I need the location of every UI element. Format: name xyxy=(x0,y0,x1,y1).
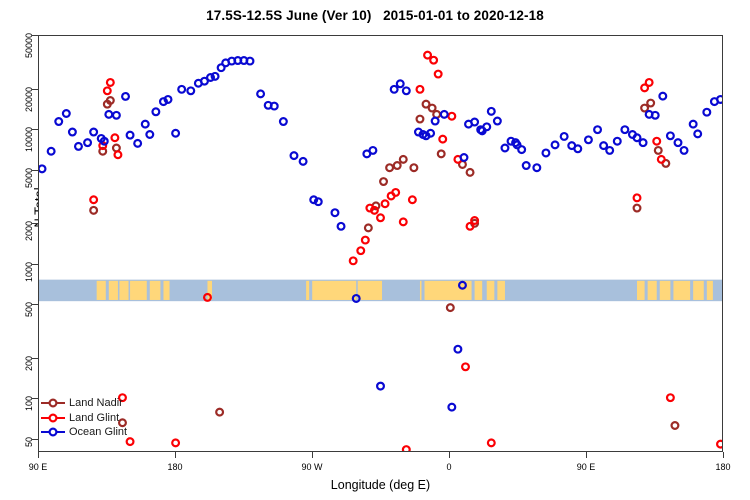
data-point xyxy=(394,162,401,169)
x-tick-mark xyxy=(312,452,313,458)
data-point xyxy=(424,52,431,59)
legend-item-ocean-glint[interactable]: Ocean Glint xyxy=(40,425,127,440)
data-point xyxy=(365,224,372,231)
data-point xyxy=(172,439,179,446)
data-point xyxy=(432,118,439,125)
y-tick-label: 2000 xyxy=(24,221,34,250)
data-point xyxy=(69,129,76,136)
data-point xyxy=(146,131,153,138)
data-point xyxy=(172,130,179,137)
data-point xyxy=(105,111,112,118)
data-point xyxy=(392,189,399,196)
data-point xyxy=(291,152,298,159)
data-point xyxy=(647,100,654,107)
data-point xyxy=(315,198,322,205)
data-point xyxy=(448,113,455,120)
data-point xyxy=(357,247,364,254)
y-tick-label: 20000 xyxy=(24,87,34,116)
data-point xyxy=(447,304,454,311)
data-point xyxy=(380,178,387,185)
data-point xyxy=(675,139,682,146)
data-point xyxy=(429,105,436,112)
data-point xyxy=(523,162,530,169)
y-tick-label: 200 xyxy=(24,356,34,385)
data-point xyxy=(257,90,264,97)
data-point xyxy=(518,146,525,153)
data-point xyxy=(377,383,384,390)
data-point xyxy=(271,103,278,110)
data-point xyxy=(561,133,568,140)
series-land-glint xyxy=(90,52,722,451)
data-point xyxy=(417,86,424,93)
data-point xyxy=(247,58,254,65)
legend-marker-icon xyxy=(40,411,66,425)
data-point xyxy=(187,87,194,94)
data-point xyxy=(113,112,120,119)
data-point xyxy=(461,154,468,161)
data-point xyxy=(652,112,659,119)
data-point xyxy=(300,158,307,165)
data-point xyxy=(350,257,357,264)
data-point xyxy=(178,86,185,93)
x-tick-label: 180 xyxy=(698,462,748,472)
series-ocean-glint xyxy=(39,57,722,410)
data-point xyxy=(204,294,211,301)
data-point xyxy=(39,165,45,172)
data-point xyxy=(430,57,437,64)
data-point xyxy=(107,97,114,104)
data-point xyxy=(55,118,62,125)
data-point xyxy=(122,93,129,100)
x-tick-mark xyxy=(175,452,176,458)
data-point xyxy=(332,209,339,216)
legend-item-land-nadir[interactable]: Land Nadir xyxy=(40,396,127,411)
data-point xyxy=(459,282,466,289)
x-tick-label: 180 xyxy=(150,462,200,472)
data-point xyxy=(502,145,509,152)
data-point xyxy=(467,169,474,176)
x-tick-label: 90 E xyxy=(561,462,611,472)
data-point xyxy=(681,147,688,154)
x-tick-label: 90 W xyxy=(287,462,337,472)
data-point xyxy=(382,200,389,207)
data-point xyxy=(634,194,641,201)
data-point xyxy=(606,147,613,154)
data-point xyxy=(659,93,666,100)
data-point xyxy=(216,409,223,416)
scatter-data-layer xyxy=(39,36,722,451)
y-tick-label: 100 xyxy=(24,396,34,425)
data-point xyxy=(646,79,653,86)
data-point xyxy=(115,151,122,158)
data-point xyxy=(533,164,540,171)
data-point xyxy=(353,295,360,302)
data-point xyxy=(90,196,97,203)
data-point xyxy=(417,116,424,123)
legend-label: Land Nadir xyxy=(69,397,123,409)
data-point xyxy=(552,141,559,148)
data-point xyxy=(585,136,592,143)
y-tick-label: 50000 xyxy=(24,33,34,62)
y-tick-label: 1000 xyxy=(24,262,34,291)
data-point xyxy=(455,346,462,353)
data-point xyxy=(483,123,490,130)
data-point xyxy=(127,132,134,139)
data-point xyxy=(63,110,70,117)
legend-marker-icon xyxy=(40,396,66,410)
data-point xyxy=(386,164,393,171)
data-point xyxy=(694,131,701,138)
data-point xyxy=(411,164,418,171)
data-point xyxy=(90,207,97,214)
data-point xyxy=(400,219,407,226)
data-point xyxy=(142,121,149,128)
legend: Land NadirLand GlintOcean Glint xyxy=(40,396,127,440)
data-point xyxy=(594,126,601,133)
x-tick-label: 90 E xyxy=(13,462,63,472)
data-point xyxy=(370,147,377,154)
data-point xyxy=(338,223,345,230)
data-point xyxy=(653,138,660,145)
x-tick-mark xyxy=(449,452,450,458)
x-tick-mark xyxy=(723,452,724,458)
plot-area xyxy=(38,35,723,452)
data-point xyxy=(672,422,679,429)
data-point xyxy=(621,126,628,133)
data-point xyxy=(90,129,97,136)
data-point xyxy=(397,80,404,87)
data-point xyxy=(152,108,159,115)
y-tick-label: 5000 xyxy=(24,168,34,197)
data-point xyxy=(435,71,442,78)
data-point xyxy=(441,111,448,118)
data-point xyxy=(543,150,550,157)
data-point xyxy=(634,205,641,212)
data-point xyxy=(471,119,478,126)
data-point xyxy=(400,156,407,163)
x-tick-label: 0 xyxy=(424,462,474,472)
data-point xyxy=(212,73,219,80)
data-point xyxy=(448,404,455,411)
data-point xyxy=(371,207,378,214)
data-point xyxy=(134,140,141,147)
data-point xyxy=(703,109,710,116)
series-land-nadir xyxy=(90,97,678,429)
x-axis-label: Longitude (deg E) xyxy=(38,478,723,492)
data-point xyxy=(362,237,369,244)
plot-title: 17.5S-12.5S June (Ver 10) 2015-01-01 to … xyxy=(0,8,750,23)
data-point xyxy=(409,196,416,203)
data-point xyxy=(717,96,722,103)
data-point xyxy=(667,132,674,139)
data-point xyxy=(690,121,697,128)
data-point xyxy=(104,87,111,94)
x-tick-mark xyxy=(38,452,39,458)
data-point xyxy=(427,130,434,137)
data-point xyxy=(127,438,134,445)
y-tick-label: 500 xyxy=(24,302,34,331)
data-point xyxy=(658,156,665,163)
legend-label: Land Glint xyxy=(69,412,119,424)
data-point xyxy=(439,136,446,143)
legend-marker-icon xyxy=(40,425,66,439)
data-point xyxy=(488,108,495,115)
data-point xyxy=(641,105,648,112)
data-point xyxy=(462,363,469,370)
data-point xyxy=(111,134,118,141)
data-point xyxy=(403,446,410,451)
data-point xyxy=(391,86,398,93)
data-point xyxy=(48,148,55,155)
data-point xyxy=(107,79,114,86)
data-point xyxy=(165,96,172,103)
legend-item-land-glint[interactable]: Land Glint xyxy=(40,411,127,426)
data-point xyxy=(640,139,647,146)
data-point xyxy=(717,441,722,448)
data-point xyxy=(377,214,384,221)
data-point xyxy=(614,138,621,145)
data-point xyxy=(403,87,410,94)
data-point xyxy=(494,118,501,125)
figure-canvas: 17.5S-12.5S June (Ver 10) 2015-01-01 to … xyxy=(0,0,750,500)
data-point xyxy=(84,139,91,146)
legend-label: Ocean Glint xyxy=(69,426,127,438)
data-point xyxy=(488,439,495,446)
data-point xyxy=(667,394,674,401)
data-point xyxy=(438,150,445,157)
y-tick-label: 10000 xyxy=(24,127,34,156)
data-point xyxy=(655,147,662,154)
data-point xyxy=(75,143,82,150)
data-point xyxy=(280,118,287,125)
x-tick-mark xyxy=(586,452,587,458)
data-point xyxy=(574,145,581,152)
